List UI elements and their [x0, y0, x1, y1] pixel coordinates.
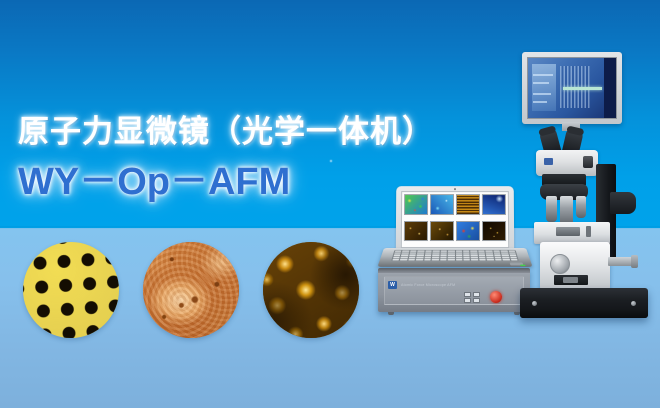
objective-lens-3 — [576, 196, 586, 218]
laptop-screen — [401, 191, 509, 248]
actuator-cap — [631, 255, 638, 268]
connector-port — [464, 298, 471, 303]
scan-thumbnail-image — [456, 221, 480, 242]
head-brand-badge — [544, 158, 553, 165]
scan-thumbnail — [430, 194, 454, 218]
grain-shadowing — [263, 242, 359, 338]
scan-thumbnail-caption — [456, 241, 480, 245]
scan-thumbnail — [456, 194, 480, 218]
base-bolt — [631, 301, 636, 306]
scan-thumbnail-image — [430, 194, 454, 214]
page-title: 原子力显微镜（光学一体机） — [18, 112, 438, 152]
lcd-monitor — [522, 52, 622, 124]
head-adjust-knob[interactable] — [583, 156, 593, 168]
connector-port — [464, 292, 471, 297]
sample-stage-top — [534, 222, 610, 244]
base-front-face — [520, 309, 648, 318]
scanner-nameplate — [554, 275, 588, 285]
controller-foot — [388, 312, 394, 315]
controller-brand-text: Atomic Force Microscope AFM — [401, 282, 455, 288]
software-side-panel — [532, 64, 557, 111]
terrace-pits — [143, 242, 239, 338]
connector-port — [473, 298, 480, 303]
sample-image-terrace-topography — [143, 242, 239, 338]
software-row-line — [533, 93, 551, 95]
scanner-label — [563, 277, 578, 283]
software-row-line — [533, 82, 549, 84]
laptop-lid — [396, 186, 514, 256]
headline-block: 原子力显微镜（光学一体机） WY－Op－AFM — [18, 112, 438, 204]
scan-cursor-line — [563, 87, 602, 90]
objective-lens-1 — [546, 196, 557, 222]
microscope-head — [536, 150, 598, 176]
monitor-dark-edge — [604, 58, 616, 118]
nanodot-shading — [23, 242, 119, 338]
webcam-icon — [454, 188, 456, 190]
sample-image-gold-grains — [263, 242, 359, 338]
software-row-line — [533, 101, 547, 103]
monitor-screen — [527, 57, 617, 119]
scan-thumbnail-caption — [404, 215, 428, 219]
afm-scanner-stage — [540, 242, 610, 290]
scan-thumbnail — [404, 221, 428, 246]
product-banner: 原子力显微镜（光学一体机） WY－Op－AFM — [0, 0, 660, 408]
sample-image-nanodot-array — [23, 242, 119, 338]
scan-thumbnail-image — [404, 221, 428, 242]
scanner-side-actuator — [608, 257, 634, 266]
product-model: WY－Op－AFM — [18, 160, 438, 204]
scan-thumbnail — [404, 194, 428, 218]
base-bolt — [532, 301, 537, 306]
eyecup — [538, 125, 556, 136]
stage-pin — [586, 226, 591, 237]
eyecup — [566, 125, 584, 136]
stage-slot — [556, 227, 580, 236]
side-camera-port — [610, 192, 636, 214]
scan-thumbnail-caption — [430, 241, 454, 245]
scan-thumbnail-caption — [430, 215, 454, 219]
connector-port — [473, 292, 480, 297]
scan-thumbnail-caption — [404, 241, 428, 245]
scanner-adjust-knob[interactable] — [550, 254, 570, 274]
scan-thumbnail — [456, 221, 480, 246]
scan-thumbnail-image — [404, 194, 428, 214]
optical-afm-microscope — [498, 52, 658, 334]
scan-thumbnail — [430, 221, 454, 246]
brand-logo-icon: W — [388, 281, 397, 289]
scan-thumbnail-image — [456, 194, 480, 214]
software-row-line — [533, 74, 552, 76]
scan-thumbnail-caption — [456, 215, 480, 219]
granite-base — [520, 288, 648, 318]
controller-port-grid — [464, 292, 480, 303]
scan-thumbnail-image — [430, 221, 454, 242]
